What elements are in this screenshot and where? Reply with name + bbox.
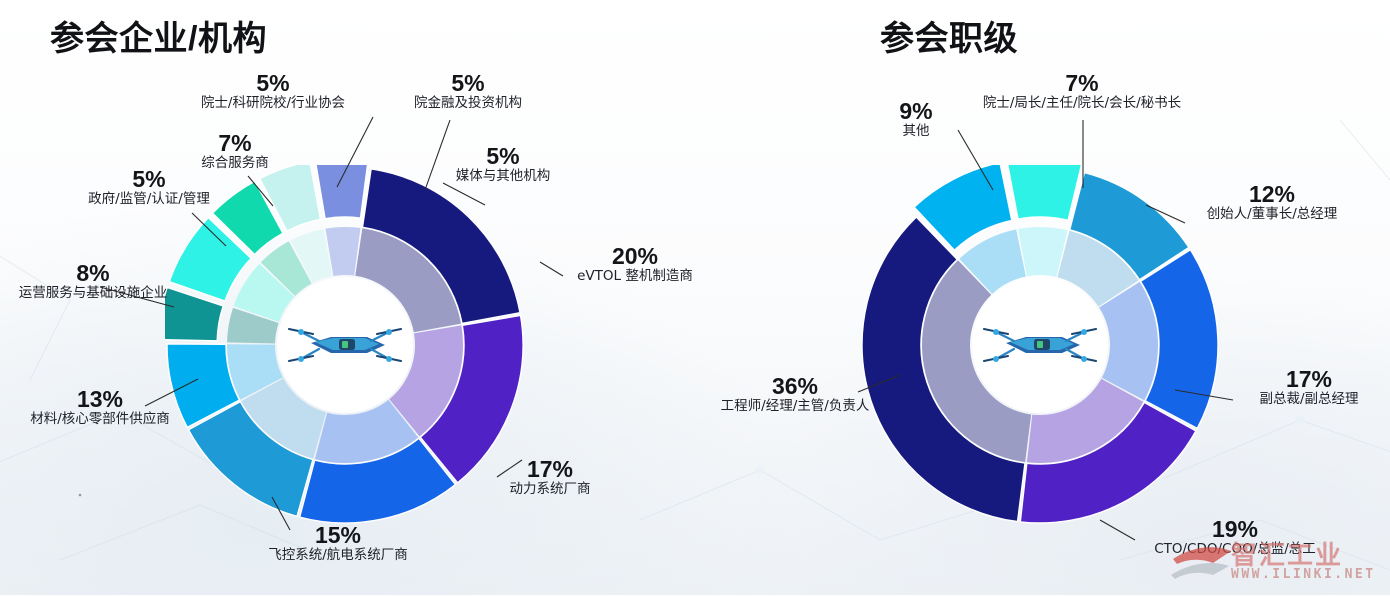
callout-powertrain: 17% 动力系统厂商 [470,458,630,498]
callout-evtol: 20% eVTOL 整机制造商 [565,245,705,285]
callout-pct: 9% [880,100,952,123]
page-title-enterprise: 参会企业/机构 [50,22,267,56]
callout-pct: 5% [178,72,368,95]
callout-pct: 12% [1182,183,1362,206]
callout-desc: 院金融及投资机构 [394,96,542,112]
callout-pct: 7% [176,132,294,155]
callout-desc: 院士/局长/主任/院长/会长/秘书长 [957,96,1207,112]
callout-desc: 运营服务与基础设施企业 [3,286,183,302]
callout-desc: 飞控系统/航电系统厂商 [248,548,428,564]
callout-desc: 材料/核心零部件供应商 [10,412,190,428]
callout-materials: 13% 材料/核心零部件供应商 [10,388,190,428]
callout-pct: 5% [438,145,568,168]
callout-pct: 5% [394,72,542,95]
callout-other: 9% 其他 [880,100,952,140]
callout-desc: 院士/科研院校/行业协会 [178,96,368,112]
callout-vp: 17% 副总裁/副总经理 [1235,368,1383,408]
callout-desc: 副总裁/副总经理 [1235,392,1383,408]
callout-pct: 17% [1235,368,1383,391]
donut-outer-segment[interactable] [1007,165,1082,220]
callout-pct: 36% [695,375,895,398]
callout-pct: 7% [957,72,1207,95]
callout-pct: 19% [1135,518,1335,541]
callout-desc: 媒体与其他机构 [438,169,568,185]
donut-outer-segment[interactable] [315,165,368,219]
infographic-stage: 参会企业/机构 [0,0,1390,595]
page-title-jobtitle: 参会职级 [880,22,1018,56]
callout-pct: 17% [470,458,630,481]
callout-desc: CTO/CDO/COO/总监/总工 [1135,542,1335,558]
donut-chart-jobtitle[interactable] [860,165,1220,525]
callout-operations: 8% 运营服务与基础设施企业 [3,262,183,302]
panel-jobtitle: 参会职级 [695,0,1390,595]
callout-avionics: 15% 飞控系统/航电系统厂商 [248,524,428,564]
callout-desc: 创始人/董事长/总经理 [1182,207,1362,223]
callout-desc: 其他 [880,124,952,140]
callout-desc: 动力系统厂商 [470,482,630,498]
callout-desc: 工程师/经理/主管/负责人 [695,399,895,415]
callout-desc: eVTOL 整机制造商 [565,269,705,285]
panel-enterprise: 参会企业/机构 [0,0,695,595]
callout-founder: 12% 创始人/董事长/总经理 [1182,183,1362,223]
callout-pct: 13% [10,388,190,411]
callout-pct: 20% [565,245,705,268]
callout-desc: 政府/监管/认证/管理 [59,192,239,208]
callout-pct: 15% [248,524,428,547]
callout-pct: 5% [59,168,239,191]
callout-finance: 5% 院金融及投资机构 [394,72,542,112]
callout-academia: 5% 院士/科研院校/行业协会 [178,72,368,112]
callout-integrated: 7% 综合服务商 [176,132,294,172]
callout-engineer: 36% 工程师/经理/主管/负责人 [695,375,895,415]
callout-government: 5% 政府/监管/认证/管理 [59,168,239,208]
callout-academician: 7% 院士/局长/主任/院长/会长/秘书长 [957,72,1207,112]
callout-media: 5% 媒体与其他机构 [438,145,568,185]
callout-cxo: 19% CTO/CDO/COO/总监/总工 [1135,518,1335,558]
callout-pct: 8% [3,262,183,285]
